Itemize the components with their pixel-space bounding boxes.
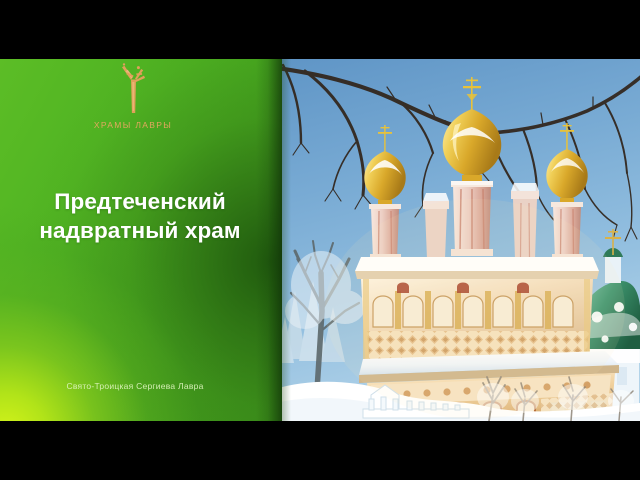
slide-title-line-1: Предтеченский xyxy=(14,187,266,216)
candle-tower-icon xyxy=(111,61,155,119)
title-panel: ХРАМЫ ЛАВРЫ Предтеченский надвратный хра… xyxy=(0,59,282,421)
slide-subtitle-caption: Свято-Троицкая Сергиева Лавра xyxy=(0,381,270,391)
church-photo-artwork xyxy=(275,59,640,421)
letterbox-bar-top xyxy=(0,0,640,59)
slide-title: Предтеченский надвратный храм xyxy=(14,187,266,246)
brand-logo: ХРАМЫ ЛАВРЫ xyxy=(0,61,266,130)
slide-content-band: ХРАМЫ ЛАВРЫ Предтеченский надвратный хра… xyxy=(0,59,640,421)
video-slide: ХРАМЫ ЛАВРЫ Предтеченский надвратный хра… xyxy=(0,0,640,480)
church-photograph xyxy=(275,59,640,421)
brand-logo-text: ХРАМЫ ЛАВРЫ xyxy=(0,120,266,130)
slide-title-line-2: надвратный храм xyxy=(14,216,266,245)
letterbox-bar-bottom xyxy=(0,421,640,480)
